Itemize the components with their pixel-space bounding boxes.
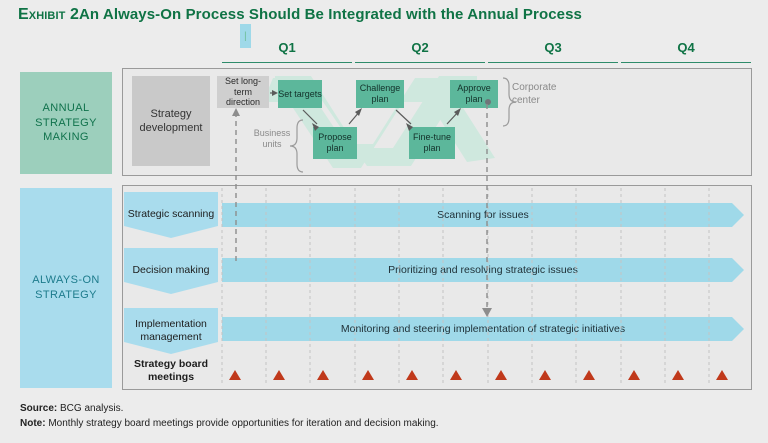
swimlane-label-corporate-center: Corporate center [512, 82, 572, 107]
step-challenge-plan[interactable]: Challenge plan [356, 80, 404, 108]
category-always-on-strategy: ALWAYS-ON STRATEGY [20, 188, 112, 388]
step-set-targets[interactable]: Set targets [278, 80, 322, 108]
bar-prioritizing-and-resolving[interactable]: Prioritizing and resolving strategic iss… [222, 258, 744, 282]
board-meeting-marker[interactable] [716, 370, 728, 380]
quarter-header-q1: Q1 [222, 40, 352, 63]
board-meeting-marker[interactable] [672, 370, 684, 380]
board-meeting-marker[interactable] [450, 370, 462, 380]
exhibit-number: Exhibit 2 [18, 6, 79, 23]
bar-monitoring-and-steering[interactable]: Monitoring and steering implementation o… [222, 317, 744, 341]
footer-source-label: Source: [20, 403, 57, 414]
board-meeting-marker[interactable] [362, 370, 374, 380]
board-meeting-marker[interactable] [317, 370, 329, 380]
quarter-header-q4: Q4 [621, 40, 751, 63]
page-title: Exhibit 2|An Always-On Process Should Be… [18, 6, 582, 24]
board-meeting-marker[interactable] [539, 370, 551, 380]
bar-scanning-for-issues[interactable]: Scanning for issues [222, 203, 744, 227]
quarter-header-q2: Q2 [355, 40, 485, 63]
exhibit-page: Exhibit 2|An Always-On Process Should Be… [0, 0, 768, 443]
category-annual-strategy-making: ANNUAL STRATEGY MAKING [20, 72, 112, 174]
step-set-long-term-direction[interactable]: Set long-term direction [217, 76, 269, 108]
board-meeting-marker[interactable] [583, 370, 595, 380]
footer-source-text: BCG analysis. [57, 403, 123, 414]
board-meeting-marker[interactable] [628, 370, 640, 380]
approve-plan-anchor-dot [485, 99, 491, 105]
board-meeting-marker[interactable] [273, 370, 285, 380]
board-meeting-marker[interactable] [495, 370, 507, 380]
board-meeting-marker[interactable] [229, 370, 241, 380]
exhibit-title-text: An Always-On Process Should Be Integrate… [79, 6, 582, 23]
footer-note-text: Monthly strategy board meetings provide … [46, 418, 439, 429]
board-meeting-marker[interactable] [406, 370, 418, 380]
quarter-header-q3: Q3 [488, 40, 618, 63]
step-propose-plan[interactable]: Propose plan [313, 127, 357, 159]
swimlane-label-business-units: Business units [243, 128, 301, 151]
footer-source: Source: BCG analysis. [20, 403, 123, 414]
step-approve-plan[interactable]: Approve plan [450, 80, 498, 108]
row-label-strategy-board-meetings: Strategy board meetings [124, 356, 218, 386]
step-fine-tune-plan[interactable]: Fine-tune plan [409, 127, 455, 159]
footer-note-label: Note: [20, 418, 46, 429]
lane-label-strategy-development: Strategy development [132, 76, 210, 166]
footer-note: Note: Monthly strategy board meetings pr… [20, 418, 439, 429]
